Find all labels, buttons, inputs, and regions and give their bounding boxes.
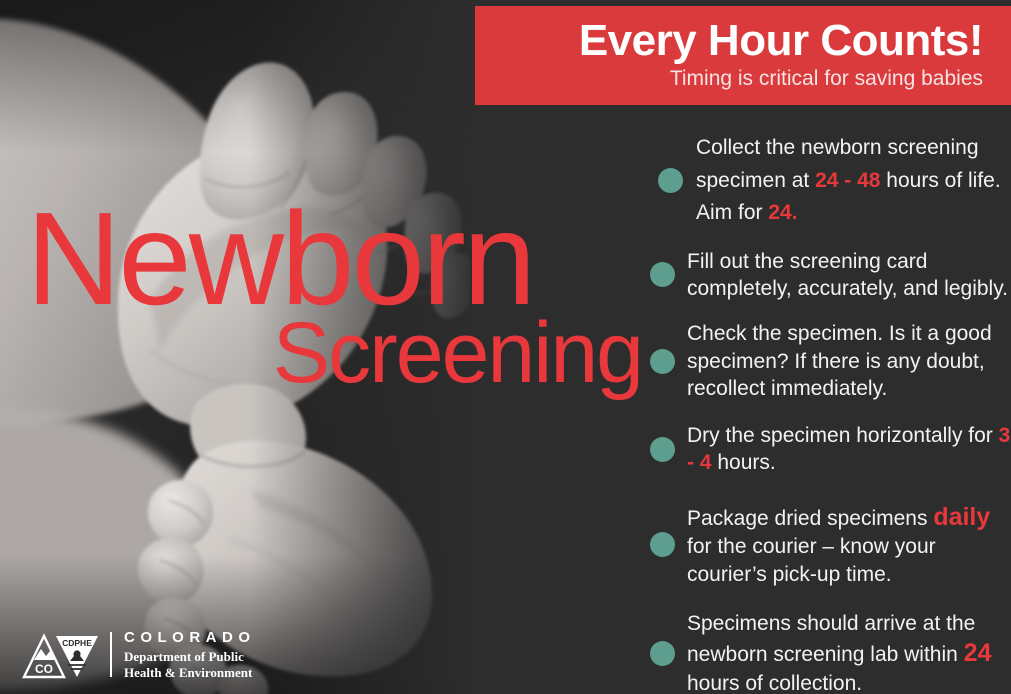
list-item: Package dried specimens daily for the co… <box>650 501 1011 588</box>
list-item-text: Package dried specimens daily for the co… <box>687 501 1011 588</box>
highlighted-text-run: 24. <box>768 201 797 224</box>
text-run: Check the specimen. Is it a good specime… <box>687 322 992 400</box>
list-item-text: Collect the newborn screening specimen a… <box>696 132 1011 230</box>
text-run: hours. <box>712 451 776 474</box>
header-band: Every Hour Counts! Timing is critical fo… <box>475 6 1011 105</box>
cdphe-logo: CO CDPHE COLORADO Department of Public H… <box>22 629 256 680</box>
list-item: Collect the newborn screening specimen a… <box>650 132 1011 230</box>
list-item: Specimens should arrive at the newborn s… <box>650 610 1011 694</box>
list-item: Dry the specimen horizontally for 3 - 4 … <box>650 422 1011 477</box>
bullet-dot-icon <box>650 437 675 462</box>
svg-text:CDPHE: CDPHE <box>62 638 92 648</box>
logo-text: COLORADO Department of Public Health & E… <box>124 629 256 680</box>
highlighted-text-run: 24 - 48 <box>815 169 880 192</box>
text-run: for the courier – know your courier’s pi… <box>687 535 936 585</box>
list-item: Check the specimen. Is it a good specime… <box>650 320 1011 402</box>
text-run: hours of collection. <box>687 672 862 694</box>
newborn-screening-poster: Newborn Screening Every Hour Counts! Tim… <box>0 0 1011 694</box>
svg-text:CO: CO <box>35 662 53 676</box>
header-title: Every Hour Counts! <box>475 18 983 64</box>
text-run: Fill out the screening card completely, … <box>687 250 1008 300</box>
text-run: Specimens should arrive at the newborn s… <box>687 612 975 666</box>
text-run: Package dried specimens <box>687 507 933 530</box>
highlighted-text-run: 24 <box>964 639 992 667</box>
list-item-text: Specimens should arrive at the newborn s… <box>687 610 1011 694</box>
header-subtitle: Timing is critical for saving babies <box>475 67 983 90</box>
logo-divider <box>110 632 112 677</box>
instruction-list: Collect the newborn screening specimen a… <box>650 132 1011 694</box>
bullet-dot-icon <box>650 532 675 557</box>
logo-state-name: COLORADO <box>124 629 256 646</box>
bullet-dot-icon <box>650 262 675 287</box>
text-run: Dry the specimen horizontally for <box>687 424 999 447</box>
logo-department-line1: Department of Public <box>124 649 256 664</box>
bullet-dot-icon <box>658 168 683 193</box>
list-item-text: Check the specimen. Is it a good specime… <box>687 320 1011 402</box>
list-item: Fill out the screening card completely, … <box>650 248 1011 303</box>
bullet-dot-icon <box>650 641 675 666</box>
logo-department-line2: Health & Environment <box>124 665 256 680</box>
list-item-text: Dry the specimen horizontally for 3 - 4 … <box>687 422 1011 477</box>
list-item-text: Fill out the screening card completely, … <box>687 248 1011 303</box>
colorado-cdphe-triangles-icon: CO CDPHE <box>22 630 100 680</box>
baby-feet-photo <box>0 0 470 694</box>
highlighted-text-run: daily <box>933 503 990 531</box>
bullet-dot-icon <box>650 349 675 374</box>
